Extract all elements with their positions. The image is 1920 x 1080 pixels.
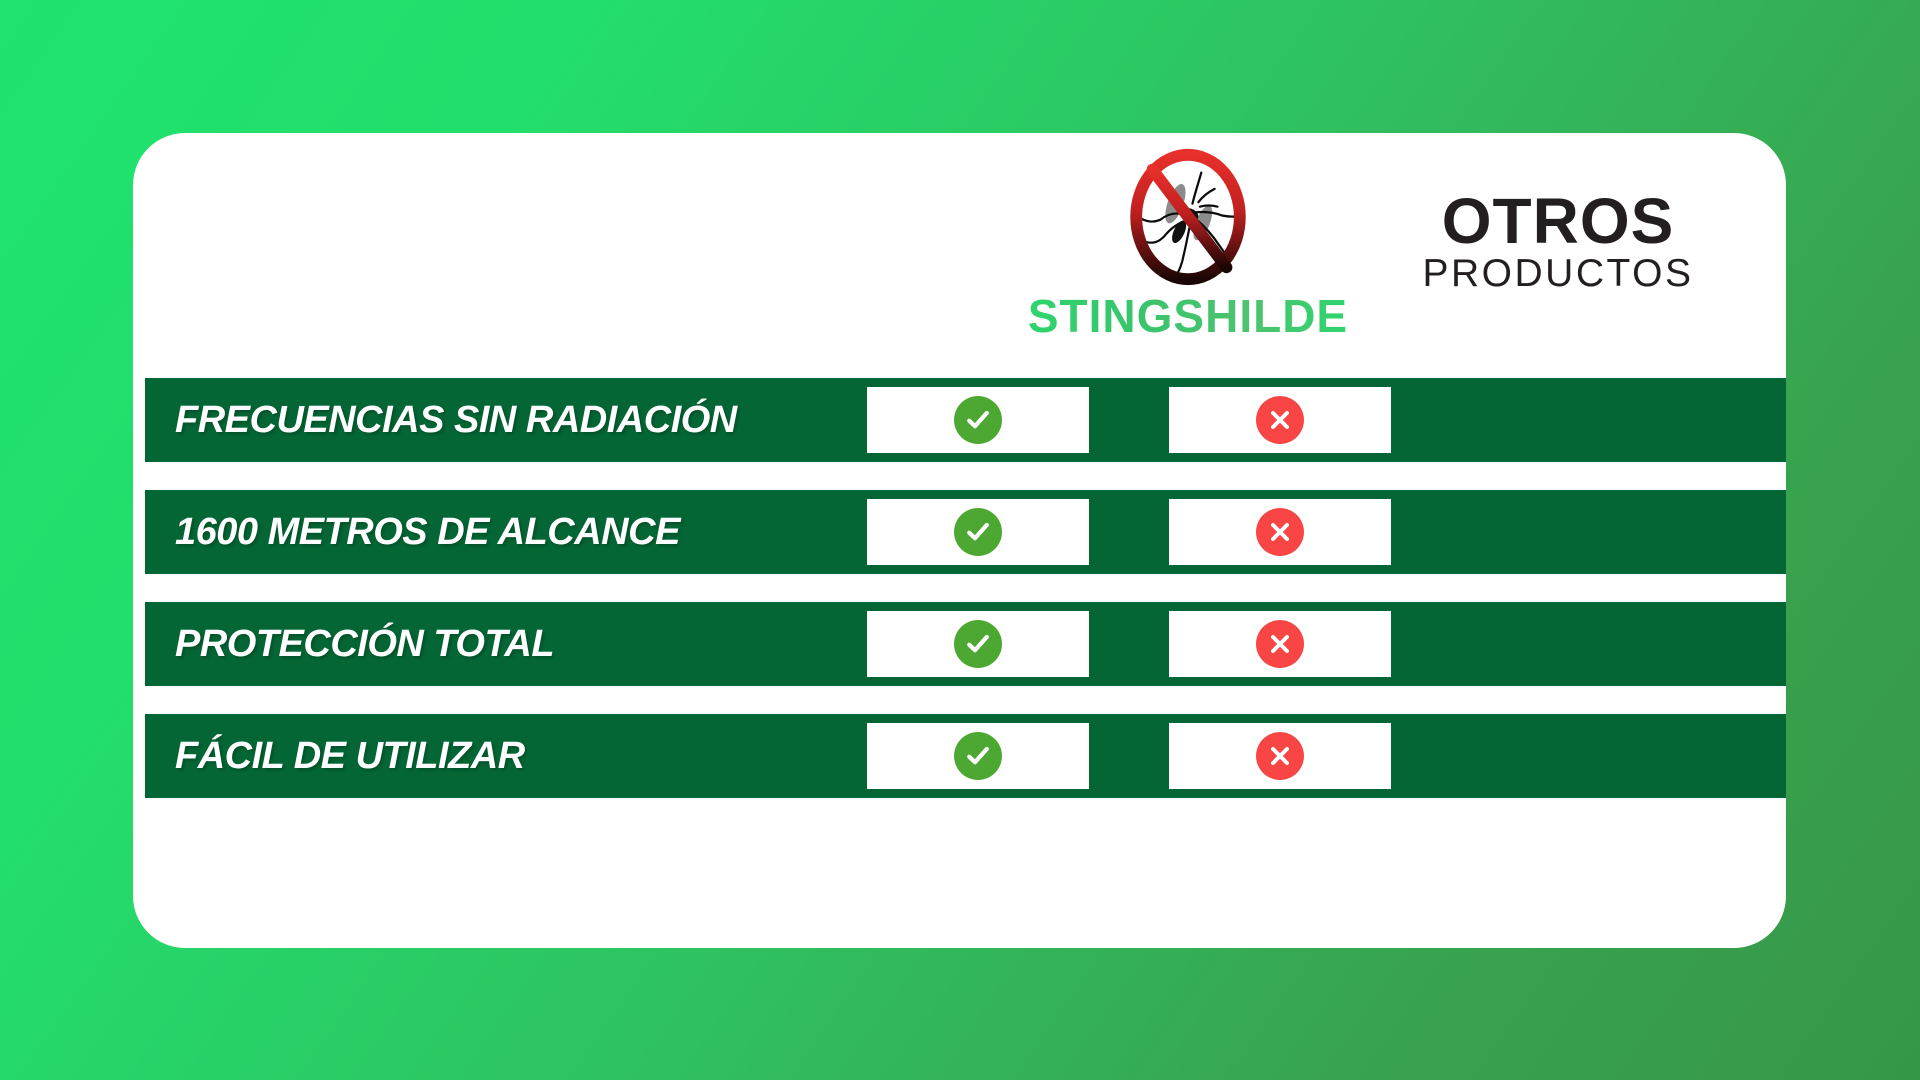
others-cell (1169, 387, 1391, 453)
brand-name: STINGSHILDE (1028, 293, 1348, 339)
table-row: PROTECCIÓN TOTAL (145, 602, 1786, 686)
check-icon (954, 508, 1002, 556)
check-icon (954, 620, 1002, 668)
others-cell (1169, 723, 1391, 789)
stingshilde-cell (867, 387, 1089, 453)
cross-icon (1256, 396, 1304, 444)
others-cell (1169, 499, 1391, 565)
content-card: STINGSHILDE OTROS PRODUCTOS FRECUENCIAS … (133, 133, 1786, 948)
others-cell (1169, 611, 1391, 677)
competitor-column: OTROS PRODUCTOS (1393, 191, 1723, 295)
table-row: 1600 METROS DE ALCANCE (145, 490, 1786, 574)
stingshilde-cell (867, 611, 1089, 677)
stingshilde-cell (867, 499, 1089, 565)
stingshilde-cell (867, 723, 1089, 789)
competitor-title: OTROS (1393, 191, 1723, 252)
table-row: FRECUENCIAS SIN RADIACIÓN (145, 378, 1786, 462)
feature-label: FÁCIL DE UTILIZAR (145, 735, 867, 778)
feature-label: FRECUENCIAS SIN RADIACIÓN (145, 399, 867, 442)
check-icon (954, 396, 1002, 444)
table-row: FÁCIL DE UTILIZAR (145, 714, 1786, 798)
cross-icon (1256, 732, 1304, 780)
mosquito-prohibited-icon (1114, 143, 1262, 291)
cross-icon (1256, 508, 1304, 556)
check-icon (954, 732, 1002, 780)
competitor-subtitle: PRODUCTOS (1393, 254, 1723, 295)
comparison-infographic: STINGSHILDE OTROS PRODUCTOS FRECUENCIAS … (0, 0, 1920, 1080)
brand-column: STINGSHILDE (1003, 143, 1373, 339)
feature-label: PROTECCIÓN TOTAL (145, 623, 867, 666)
cross-icon (1256, 620, 1304, 668)
comparison-header: STINGSHILDE OTROS PRODUCTOS (133, 133, 1786, 378)
comparison-rows: FRECUENCIAS SIN RADIACIÓN 1600 METROS DE… (145, 378, 1786, 826)
feature-label: 1600 METROS DE ALCANCE (145, 511, 867, 554)
